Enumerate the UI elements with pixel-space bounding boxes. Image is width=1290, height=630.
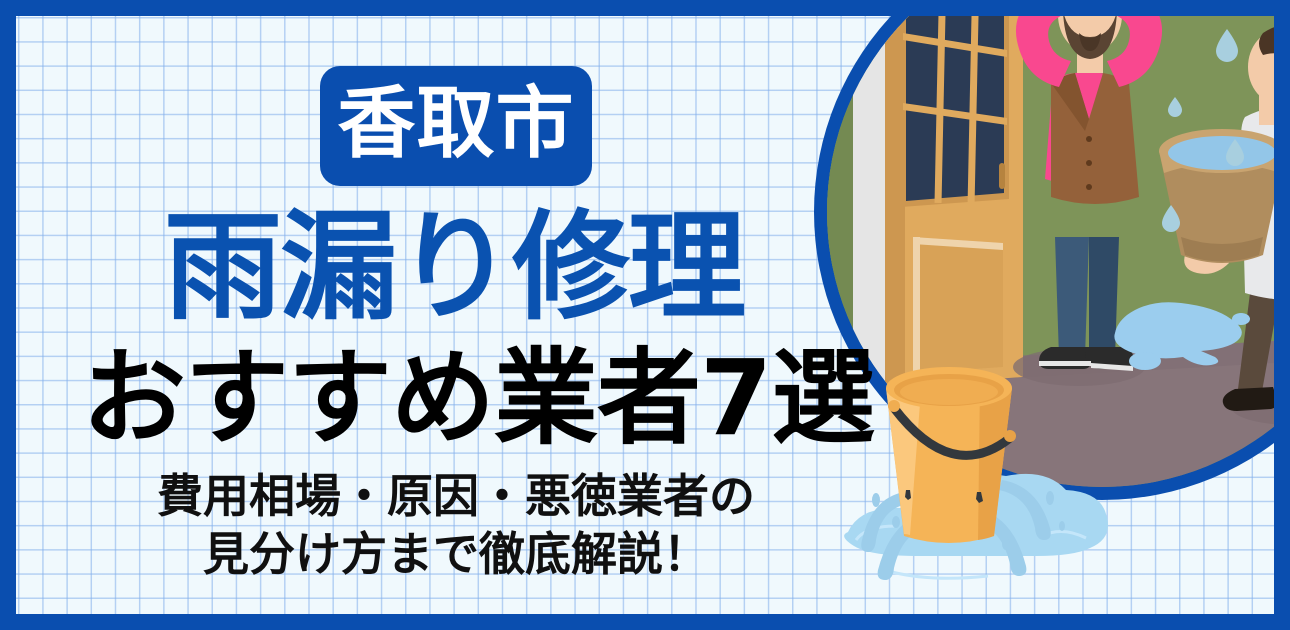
bucket-water-surface — [1168, 136, 1274, 170]
graph-paper-background: 香取市 雨漏り修理 おすすめ業者7選 費用相場・原因・悪徳業者の 見分け方まで徹… — [16, 16, 1274, 614]
city-badge-label: 香取市 — [337, 85, 574, 163]
puddle-droplet — [1232, 313, 1250, 325]
bucket-inner-bottom — [900, 379, 998, 405]
subtitle-line-1: 費用相場・原因・悪徳業者の — [76, 468, 836, 526]
leaking-bucket-svg — [832, 346, 1132, 606]
wooden-glass-door — [885, 16, 1023, 387]
headline-line-1: 雨漏り修理 — [164, 208, 744, 326]
puddle-splash-small — [1129, 352, 1161, 370]
subtitle-line-2: 見分け方まで徹底解説！ — [76, 526, 836, 584]
banner-canvas: 香取市 雨漏り修理 おすすめ業者7選 費用相場・原因・悪徳業者の 見分け方まで徹… — [0, 0, 1290, 630]
left-leg — [1055, 237, 1089, 357]
leaking-bucket-graphic — [832, 346, 1132, 606]
city-badge: 香取市 — [320, 66, 592, 186]
handle-mount-left — [888, 400, 900, 412]
headline-line-2: おすすめ業者7選 — [82, 346, 874, 450]
right-leg — [1089, 237, 1119, 357]
handle-mount-right — [1004, 430, 1016, 442]
subtitle-block: 費用相場・原因・悪徳業者の 見分け方まで徹底解説！ — [76, 468, 836, 584]
